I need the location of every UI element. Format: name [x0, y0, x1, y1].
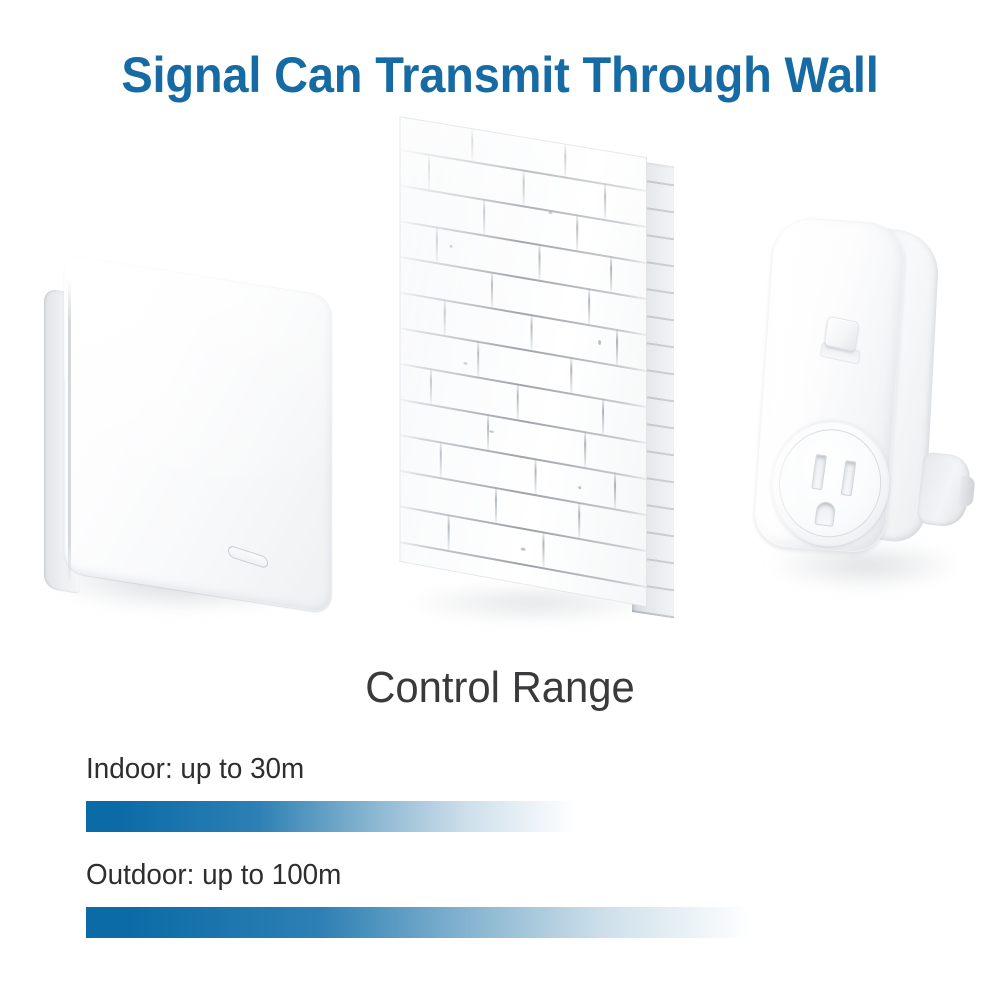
led-indicator-icon: [228, 545, 268, 570]
outlet-ground-hole: [814, 501, 836, 527]
wall-switch-faceplate: [64, 254, 332, 614]
smart-plug-shadow: [770, 548, 960, 590]
range-label-indoor: Indoor: up to 30m: [86, 752, 571, 786]
wall-switch-product: [38, 265, 338, 635]
outlet-slot-live: [841, 460, 857, 496]
range-row-indoor: Indoor: up to 30m: [86, 752, 591, 832]
range-bar-outdoor: [86, 907, 772, 938]
range-label-outdoor: Outdoor: up to 100m: [86, 858, 745, 892]
brick-wall-front-face: [401, 117, 646, 606]
page-title: Signal Can Transmit Through Wall: [30, 46, 970, 104]
outlet-ring: [772, 423, 888, 544]
range-row-outdoor: Outdoor: up to 100m: [86, 858, 772, 938]
smart-plug-product: [742, 218, 982, 628]
brick-wall: [382, 158, 702, 658]
control-range-title: Control Range: [25, 662, 975, 714]
range-bar-indoor: [86, 801, 591, 832]
power-rocker-switch-icon: [824, 315, 860, 351]
smart-plug-wall-prong: [916, 452, 971, 529]
smart-plug-front-body: [753, 216, 908, 554]
wall-switch-seam: [68, 279, 71, 585]
outlet-socket-face: [763, 413, 897, 554]
outlet-slot-neutral: [811, 454, 827, 490]
product-stage: [0, 140, 1000, 660]
product-feature-image: Signal Can Transmit Through Wall: [0, 0, 1000, 1000]
